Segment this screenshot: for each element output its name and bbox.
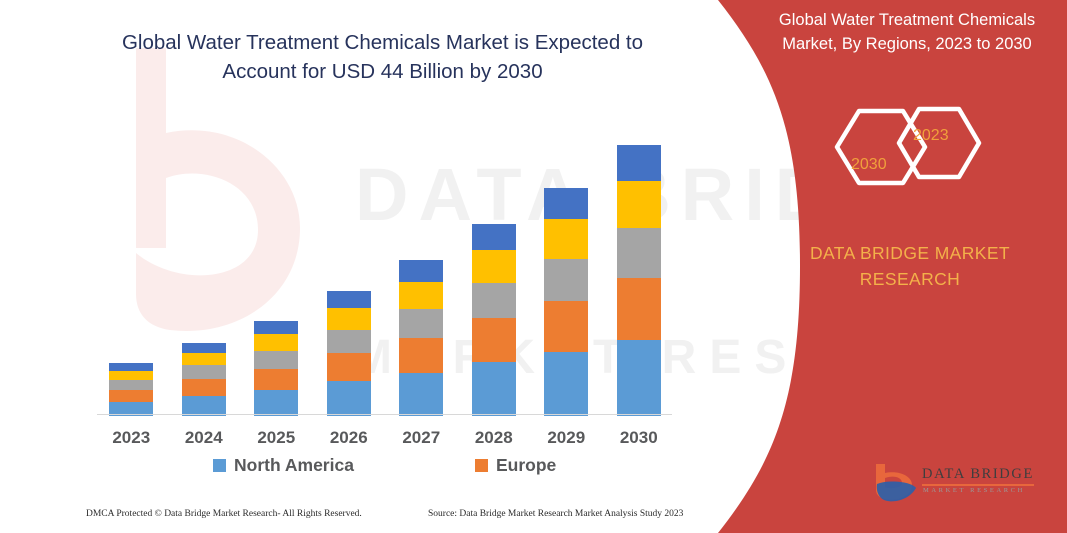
bar-segment — [399, 309, 443, 338]
bar-segment — [617, 145, 661, 182]
bar-segment — [544, 188, 588, 219]
bar-2030 — [617, 145, 661, 417]
bar-2023 — [109, 363, 153, 416]
bar-segment — [109, 390, 153, 402]
bar-segment — [472, 318, 516, 362]
legend-label: Europe — [496, 455, 556, 476]
bar-segment — [182, 353, 226, 366]
bar-segment — [617, 181, 661, 228]
x-axis-label-2028: 2028 — [458, 428, 530, 448]
bar-segment — [327, 353, 371, 381]
bar-segment — [182, 396, 226, 416]
bar-segment — [399, 373, 443, 417]
logo-b-icon — [872, 462, 918, 506]
infographic-slide: DATA BRIDGE MARKET RESEARCH Global Water… — [0, 0, 1067, 533]
bar-2025 — [254, 321, 298, 416]
bar-2027 — [399, 260, 443, 416]
bar-2026 — [327, 291, 371, 416]
bar-segment — [254, 321, 298, 334]
bar-segment — [327, 330, 371, 353]
chart-title: Global Water Treatment Chemicals Market … — [110, 28, 655, 86]
chart-plot-area — [95, 120, 675, 416]
hexagon-2030-label: 2030 — [851, 156, 887, 174]
data-bridge-logo: DATA BRIDGE MARKET RESEARCH — [872, 462, 1042, 508]
legend-swatch-icon — [475, 459, 488, 472]
footnote-copyright: DMCA Protected © Data Bridge Market Rese… — [86, 509, 362, 519]
bar-segment — [544, 259, 588, 301]
x-axis-labels: 20232024202520262027202820292030 — [95, 428, 675, 454]
bar-segment — [399, 338, 443, 373]
bar-segment — [544, 352, 588, 416]
bar-segment — [327, 291, 371, 308]
bar-segment — [254, 390, 298, 416]
footnote-source: Source: Data Bridge Market Research Mark… — [428, 509, 683, 519]
logo-subtitle: MARKET RESEARCH — [923, 487, 1025, 494]
brand-name-text: DATA BRIDGE MARKET RESEARCH — [790, 240, 1030, 292]
bar-segment — [399, 260, 443, 281]
x-axis-label-2029: 2029 — [530, 428, 602, 448]
bar-segment — [544, 301, 588, 352]
x-axis-line — [97, 414, 672, 415]
hexagon-2023-label: 2023 — [913, 127, 949, 145]
bar-segment — [109, 363, 153, 370]
x-axis-label-2024: 2024 — [168, 428, 240, 448]
bar-segment — [617, 278, 661, 339]
bar-segment — [254, 369, 298, 390]
legend-item[interactable]: Europe — [475, 455, 556, 476]
bar-segment — [327, 381, 371, 416]
bar-segment — [254, 351, 298, 369]
bar-segment — [182, 343, 226, 353]
bar-segment — [617, 228, 661, 278]
bar-segment — [472, 283, 516, 319]
bar-2029 — [544, 188, 588, 416]
logo-wordmark: DATA BRIDGE — [922, 466, 1034, 483]
bar-segment — [327, 308, 371, 330]
x-axis-label-2030: 2030 — [603, 428, 675, 448]
bar-segment — [182, 365, 226, 379]
x-axis-label-2025: 2025 — [240, 428, 312, 448]
legend-label: North America — [234, 455, 354, 476]
bar-2024 — [182, 343, 226, 416]
logo-divider — [922, 484, 1034, 486]
x-axis-label-2027: 2027 — [385, 428, 457, 448]
bar-segment — [399, 282, 443, 309]
bar-segment — [109, 380, 153, 390]
bar-segment — [109, 371, 153, 380]
legend-swatch-icon — [213, 459, 226, 472]
bar-segment — [472, 224, 516, 250]
chart-legend: North AmericaEurope — [95, 455, 675, 481]
bar-segment — [182, 379, 226, 395]
legend-item[interactable]: North America — [213, 455, 354, 476]
bar-segment — [617, 340, 661, 416]
bar-segment — [254, 334, 298, 350]
bar-segment — [472, 362, 516, 416]
right-panel-title: Global Water Treatment Chemicals Market,… — [752, 8, 1062, 56]
bar-2028 — [472, 224, 516, 416]
x-axis-label-2023: 2023 — [95, 428, 167, 448]
hexagon-group: 2023 2030 — [815, 95, 995, 200]
x-axis-label-2026: 2026 — [313, 428, 385, 448]
bar-segment — [472, 250, 516, 283]
bar-segment — [544, 219, 588, 259]
